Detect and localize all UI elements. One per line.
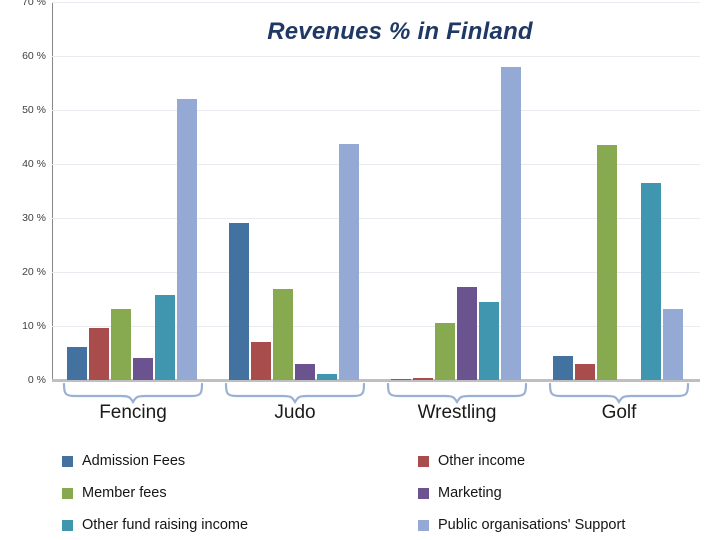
legend-label: Other income bbox=[438, 454, 525, 469]
y-tick-label-60: 60 % bbox=[0, 50, 46, 62]
category-golf: Golf bbox=[548, 382, 690, 438]
legend-color-swatch bbox=[62, 456, 73, 467]
category-fencing: Fencing bbox=[62, 382, 204, 438]
revenues-bar-chart: Revenues % in Finland 0 %10 %20 %30 %40 … bbox=[0, 0, 720, 540]
y-axis-tick-labels: 0 %10 %20 %30 %40 %50 %60 %70 % bbox=[0, 0, 720, 382]
y-tick-label-30: 30 % bbox=[0, 212, 46, 224]
legend-color-swatch bbox=[62, 488, 73, 499]
legend-item[interactable]: Admission Fees bbox=[62, 450, 185, 472]
y-tick-label-40: 40 % bbox=[0, 158, 46, 170]
curly-brace-icon bbox=[224, 382, 366, 404]
curly-brace-icon bbox=[548, 382, 690, 404]
category-label: Wrestling bbox=[386, 402, 528, 424]
legend-label: Marketing bbox=[438, 486, 502, 501]
curly-brace-icon bbox=[62, 382, 204, 404]
legend-item[interactable]: Public organisations' Support bbox=[418, 514, 625, 536]
legend-color-swatch bbox=[418, 488, 429, 499]
category-wrestling: Wrestling bbox=[386, 382, 528, 438]
category-label: Golf bbox=[548, 402, 690, 424]
legend-color-swatch bbox=[418, 456, 429, 467]
category-judo: Judo bbox=[224, 382, 366, 438]
legend-item[interactable]: Marketing bbox=[418, 482, 502, 504]
legend-label: Admission Fees bbox=[82, 454, 185, 469]
legend-item[interactable]: Other fund raising income bbox=[62, 514, 248, 536]
legend-label: Member fees bbox=[82, 486, 167, 501]
legend-item[interactable]: Other income bbox=[418, 450, 525, 472]
category-label: Fencing bbox=[62, 402, 204, 424]
legend-label: Other fund raising income bbox=[82, 518, 248, 533]
y-tick-label-50: 50 % bbox=[0, 104, 46, 116]
category-label: Judo bbox=[224, 402, 366, 424]
legend-color-swatch bbox=[418, 520, 429, 531]
legend-item[interactable]: Member fees bbox=[62, 482, 167, 504]
y-tick-label-70: 70 % bbox=[0, 0, 46, 8]
y-tick-label-10: 10 % bbox=[0, 320, 46, 332]
y-tick-label-20: 20 % bbox=[0, 266, 46, 278]
legend-label: Public organisations' Support bbox=[438, 518, 625, 533]
legend-color-swatch bbox=[62, 520, 73, 531]
curly-brace-icon bbox=[386, 382, 528, 404]
chart-legend: Admission FeesMember feesOther fund rais… bbox=[62, 450, 702, 536]
y-tick-label-0: 0 % bbox=[0, 374, 46, 386]
